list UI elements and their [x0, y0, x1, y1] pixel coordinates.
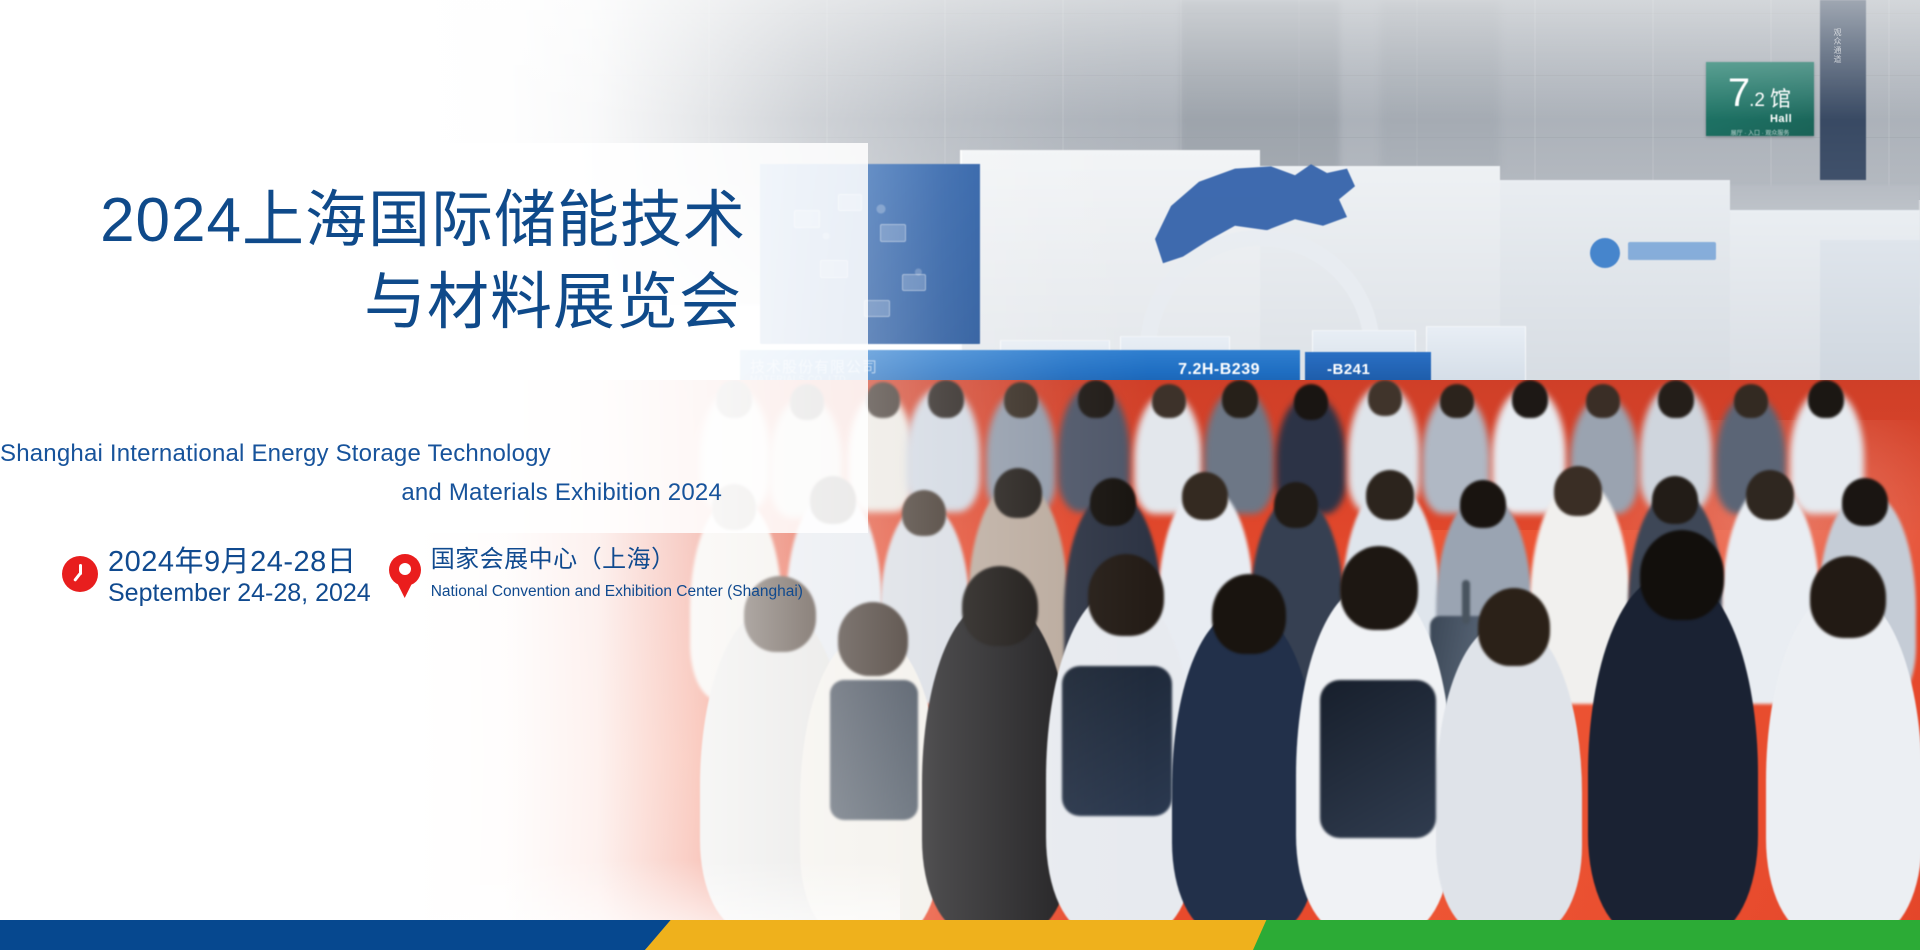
page-title: 2024上海国际储能技术 与材料展览会 [0, 180, 900, 344]
map-pin-hole [399, 563, 411, 575]
person-head [1554, 466, 1602, 516]
subtitle-line-1: Shanghai International Energy Storage Te… [0, 435, 722, 474]
bar-segment-yellow [645, 920, 1285, 950]
person-head [1340, 546, 1418, 630]
person-head [902, 490, 946, 536]
person-head [1512, 380, 1548, 418]
hall-label-en: Hall [1770, 113, 1792, 125]
hall-label-cn: 馆 [1770, 89, 1791, 111]
person-head [1652, 476, 1698, 524]
page-subtitle: Shanghai International Energy Storage Te… [0, 435, 900, 513]
person-head [1274, 482, 1318, 528]
hall-number-sign: 7 .2 馆 Hall [1706, 62, 1814, 136]
person-head [1810, 556, 1886, 638]
person-head [866, 382, 900, 418]
person-head [1478, 588, 1550, 666]
person-head [928, 380, 964, 418]
person-head [1294, 384, 1328, 420]
backpack [830, 680, 918, 820]
person-head [994, 468, 1042, 518]
person-head [1152, 384, 1186, 418]
person-head [1090, 478, 1136, 526]
map-pin-icon [389, 554, 421, 598]
person-head [1460, 480, 1506, 528]
person-head [1004, 382, 1038, 418]
bar-segment-green [1253, 920, 1920, 950]
event-date: 2024年9月24-28日 September 24-28, 2024 [62, 546, 371, 609]
person-head [1640, 530, 1724, 620]
person-head [1088, 554, 1164, 636]
person-head [962, 566, 1038, 646]
person-head [1222, 380, 1258, 418]
person-head [1586, 384, 1620, 418]
event-date-cn: 2024年9月24-28日 [108, 546, 371, 578]
person-head [1658, 380, 1694, 418]
event-info-row: 2024年9月24-28日 September 24-28, 2024 国家会展… [62, 546, 803, 609]
person-head [1182, 472, 1228, 520]
person-head [1440, 384, 1474, 418]
event-venue-cn: 国家会展中心（上海） [431, 546, 803, 575]
event-date-en: September 24-28, 2024 [108, 578, 371, 609]
sign-post-label: 观众通道 [1829, 28, 1843, 64]
clock-icon [62, 556, 98, 592]
person-head [838, 602, 908, 676]
person-head [1842, 478, 1888, 526]
person-foreground [1588, 576, 1758, 920]
person-head [1368, 380, 1402, 416]
event-venue: 国家会展中心（上海） National Convention and Exhib… [389, 546, 803, 603]
backpack [1320, 680, 1436, 838]
hall-number: 7 [1728, 73, 1749, 113]
subtitle-line-2: and Materials Exhibition 2024 [0, 474, 722, 513]
bottom-color-bar [0, 920, 1920, 950]
person-head [1734, 384, 1768, 418]
person-head [1366, 470, 1414, 520]
person-foreground [1766, 594, 1920, 920]
exhibition-banner: 观众通道 7 .2 馆 Hall 展厅 · 入口 · 观众服务 [0, 0, 1920, 950]
title-line-1: 2024上海国际储能技术 [0, 180, 790, 262]
booth-logo-strip [1628, 242, 1716, 260]
booth-number: 7.2H-B239 [1178, 361, 1260, 379]
person-head [1746, 470, 1794, 520]
suitcase-handle [1462, 580, 1470, 624]
person-head [1808, 380, 1844, 418]
person-foreground [1436, 624, 1582, 920]
bar-segment-blue [0, 920, 672, 950]
person-head [1078, 380, 1114, 418]
booth-chip [902, 274, 926, 291]
title-line-2: 与材料展览会 [0, 262, 790, 344]
hall-number-decimal: .2 [1749, 91, 1765, 110]
hall-sign-note: 展厅 · 入口 · 观众服务 [1712, 128, 1808, 137]
person-head [1212, 574, 1286, 654]
backpack [1062, 666, 1172, 816]
event-venue-en: National Convention and Exhibition Cente… [431, 580, 803, 603]
booth-logo-circle [1590, 238, 1620, 268]
